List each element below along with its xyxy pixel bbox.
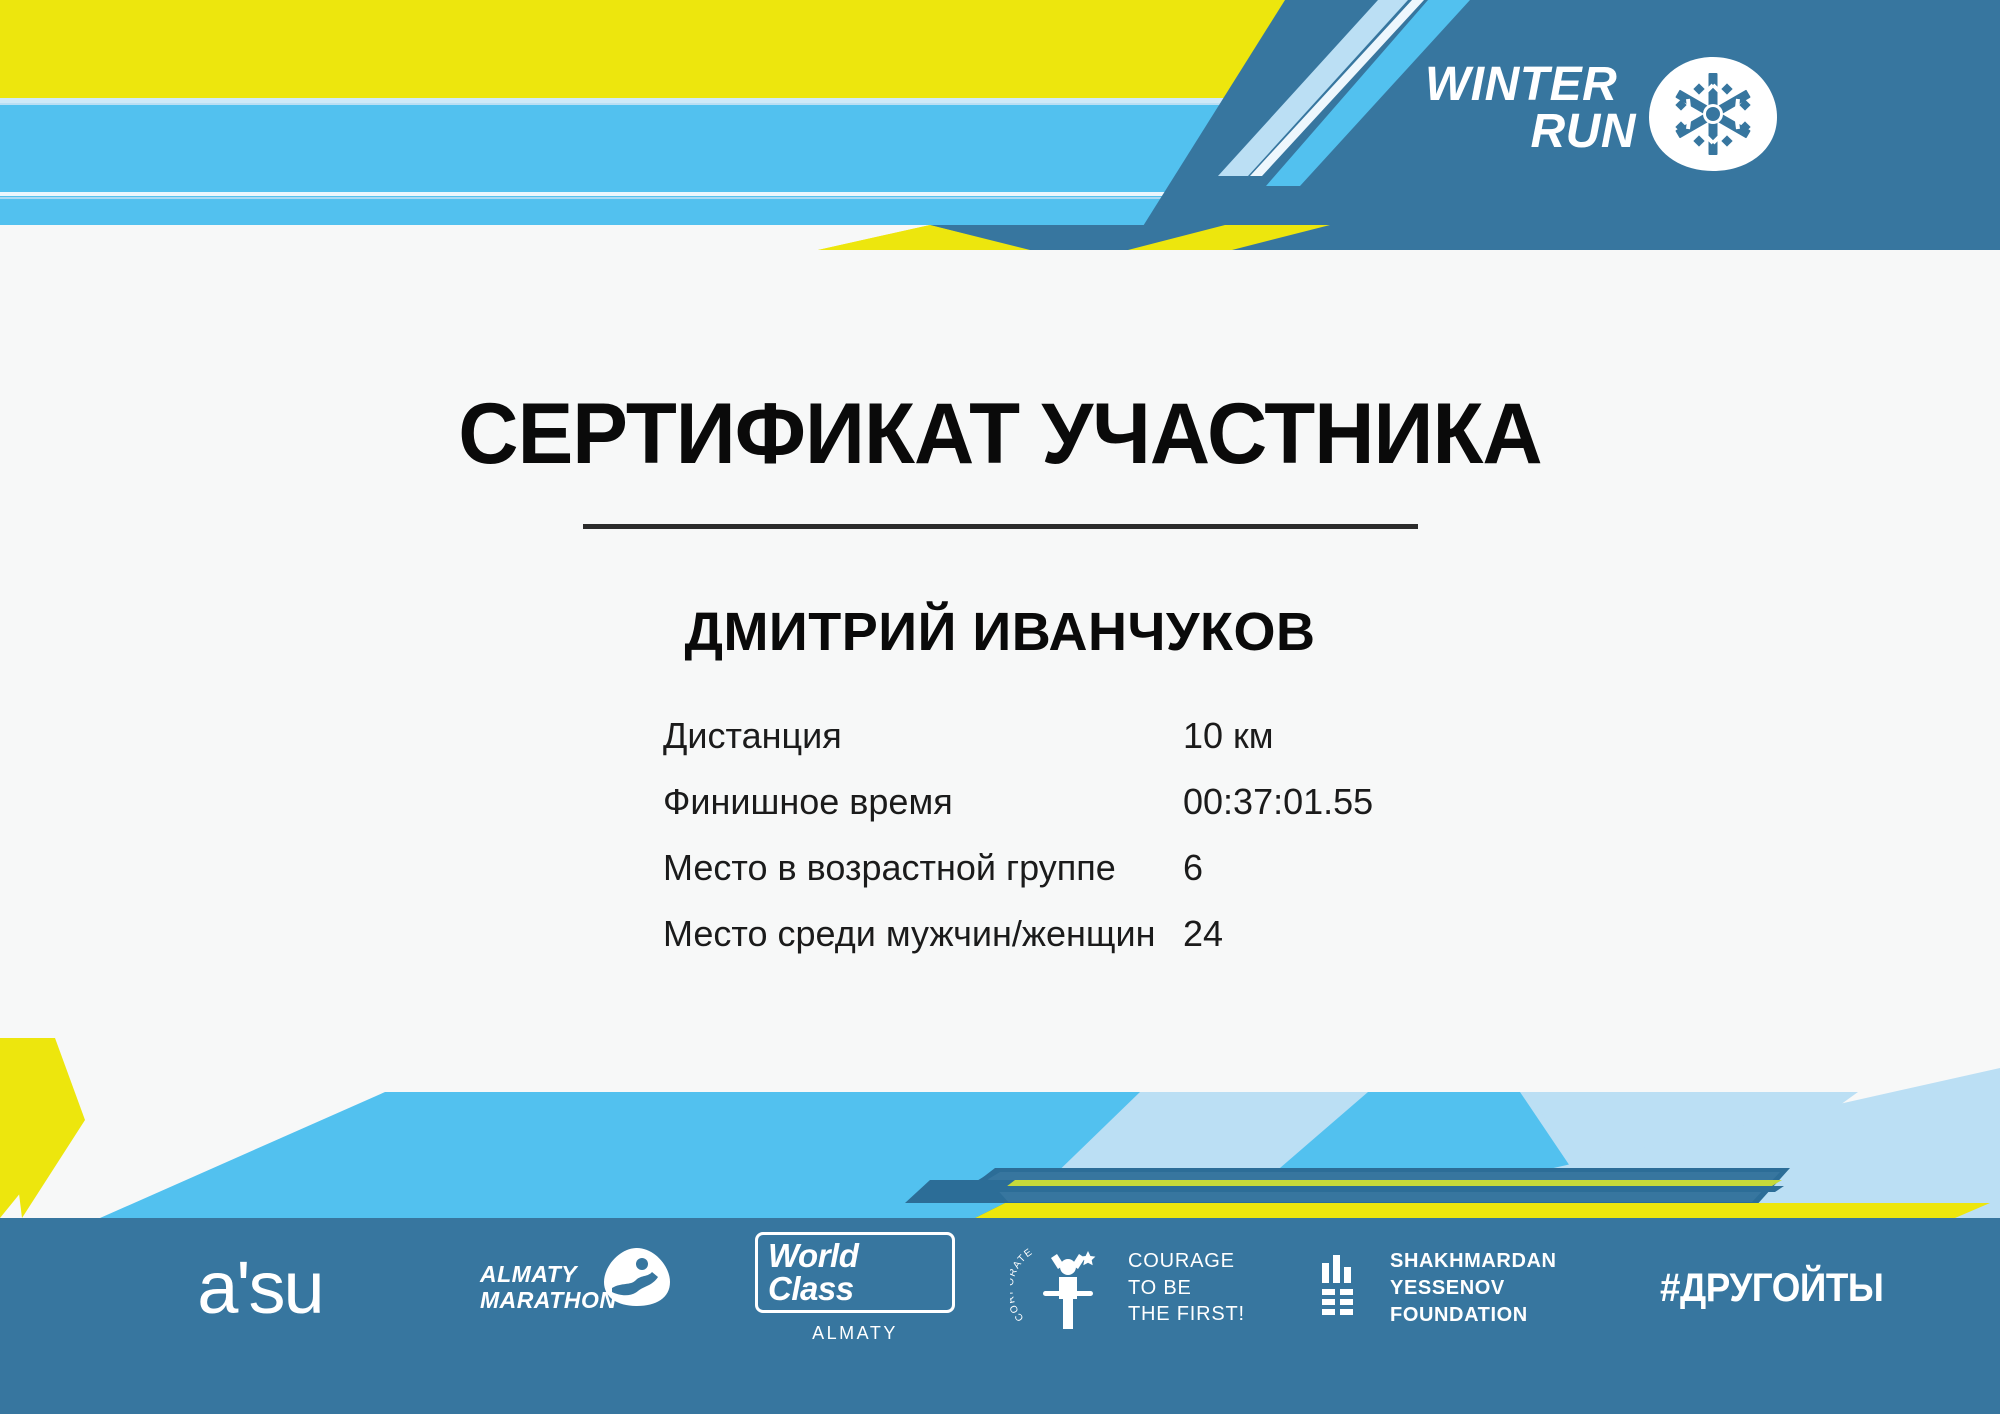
detail-label-gender-place: Место среди мужчин/женщин <box>663 913 1183 955</box>
logo-line-winter: WINTER <box>1425 58 1617 111</box>
asu-logo-icon: a'su <box>197 1251 322 1325</box>
detail-value-finish-time: 00:37:01.55 <box>1183 781 1423 823</box>
participant-name: ДМИТРИЙ ИВАНЧУКОВ <box>0 601 2000 663</box>
courage-line2: TO BE <box>1128 1275 1245 1301</box>
sponsor-courage-to-be-the-first: CORPORATE FUND CO <box>1010 1218 1270 1358</box>
yessenov-line2: FOUNDATION <box>1390 1302 1620 1329</box>
page-title: СЕРТИФИКАТ УЧАСТНИКА <box>30 385 1970 484</box>
sponsor-strip: a'su ALMATY MARATHON World Class <box>0 1218 2000 1358</box>
world-class-logo-icon: World Class <box>755 1232 955 1313</box>
bottom-decoration <box>0 1020 2000 1220</box>
footer-bar: a'su ALMATY MARATHON World Class <box>0 1218 2000 1414</box>
detail-value-distance: 10 км <box>1183 715 1423 757</box>
detail-label-age-group-place: Место в возрастной группе <box>663 847 1183 889</box>
certificate-page: WINTER RUN <box>0 0 2000 1414</box>
detail-label-distance: Дистанция <box>663 715 1183 757</box>
detail-label-finish-time: Финишное время <box>663 781 1183 823</box>
snowflake-icon <box>1647 55 1779 173</box>
detail-row: Место среди мужчин/женщин 24 <box>663 913 1423 979</box>
almaty-marathon-line1: ALMATY <box>480 1262 616 1288</box>
detail-row: Финишное время 00:37:01.55 <box>663 781 1423 847</box>
courage-line1: COURAGE <box>1128 1248 1245 1274</box>
courage-wordmark: COURAGE TO BE THE FIRST! <box>1128 1248 1245 1327</box>
yessenov-wordmark: SHAKHMARDAN YESSENOV FOUNDATION <box>1390 1248 1620 1329</box>
yessenov-line1: SHAKHMARDAN YESSENOV <box>1390 1248 1620 1302</box>
courage-line3: THE FIRST! <box>1128 1301 1245 1327</box>
sponsor-asu: a'su <box>150 1218 370 1358</box>
cheering-person-icon: CORPORATE FUND <box>1010 1234 1118 1342</box>
result-details: Дистанция 10 км Финишное время 00:37:01.… <box>663 715 1423 979</box>
sponsor-almaty-marathon: ALMATY MARATHON <box>480 1218 710 1358</box>
detail-value-age-group-place: 6 <box>1183 847 1423 889</box>
hashtag-wordmark-icon: #ДРУГОЙТЫ <box>1660 1266 1883 1311</box>
detail-row: Место в возрастной группе 6 <box>663 847 1423 913</box>
world-class-city: ALMATY <box>812 1323 898 1344</box>
title-divider <box>583 524 1418 529</box>
winter-run-logo: WINTER RUN <box>1425 55 1815 175</box>
winter-run-wordmark: WINTER RUN <box>1425 61 1640 155</box>
svg-text:CORPORATE FUND: CORPORATE FUND <box>1010 1234 1039 1323</box>
sponsor-yessenov-foundation: SHAKHMARDAN YESSENOV FOUNDATION <box>1320 1218 1620 1358</box>
logo-line-run: RUN <box>1425 108 1640 155</box>
bars-blocks-icon <box>1320 1255 1372 1322</box>
detail-row: Дистанция 10 км <box>663 715 1423 781</box>
sponsor-world-class: World Class ALMATY <box>755 1218 955 1358</box>
sponsor-drugoyty: #ДРУГОЙТЫ <box>1660 1218 1900 1358</box>
almaty-marathon-line2: MARATHON <box>480 1288 616 1314</box>
detail-value-gender-place: 24 <box>1183 913 1423 955</box>
almaty-marathon-wordmark: ALMATY MARATHON <box>480 1262 616 1314</box>
runner-icon <box>602 1246 672 1308</box>
